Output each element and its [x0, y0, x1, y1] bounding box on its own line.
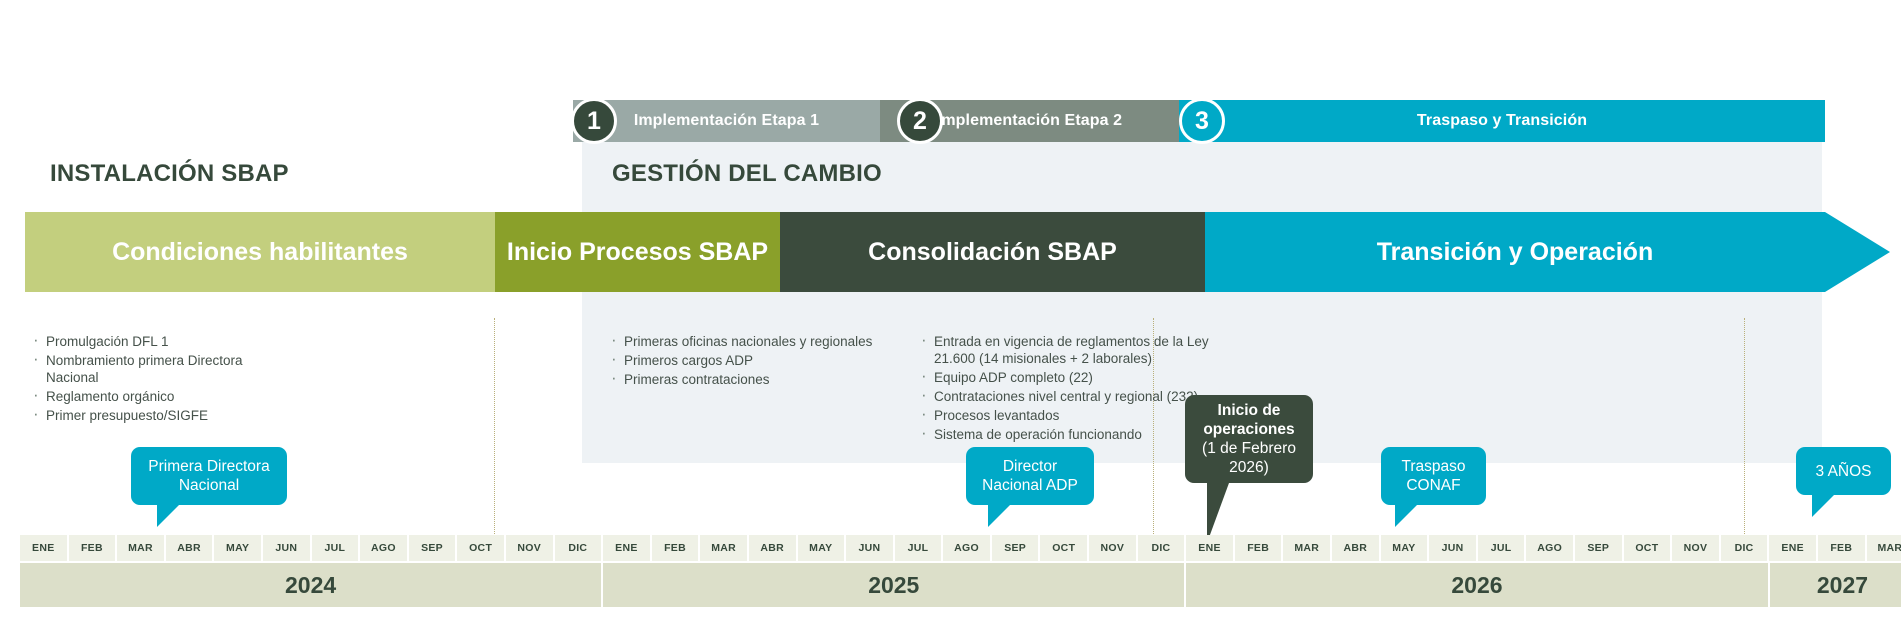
callout-line: (1 de Febrero [1202, 439, 1296, 458]
phase-bar-label: Inicio Procesos SBAP [507, 238, 768, 267]
month-cell: AGO [360, 535, 409, 561]
callout-tail-icon [1395, 505, 1417, 527]
phase-bar-label: Transición y Operación [1377, 238, 1653, 267]
callout-line: operaciones [1202, 420, 1296, 439]
phase-bar-label: Consolidación SBAP [868, 238, 1117, 267]
month-cell: DIC [1721, 535, 1770, 561]
year-cell-2026: 2026 [1186, 563, 1769, 607]
stage-number-badge-3[interactable]: 3 [1179, 98, 1225, 144]
month-cell: AGO [943, 535, 992, 561]
month-cell: NOV [1672, 535, 1721, 561]
callout-traspaso-conaf[interactable]: TraspasoCONAF [1381, 447, 1486, 505]
bullet-item: Primer presupuesto/SIGFE [30, 407, 270, 424]
stage-number-badge-1[interactable]: 1 [571, 98, 617, 144]
month-cell: MAR [700, 535, 749, 561]
bullet-item: Equipo ADP completo (22) [918, 369, 1218, 386]
month-cell: JUN [846, 535, 895, 561]
callout-text: TraspasoCONAF [1391, 457, 1475, 495]
month-cell: MAY [798, 535, 847, 561]
stage-number-badge-2[interactable]: 2 [897, 98, 943, 144]
month-cell: ENE [1186, 535, 1235, 561]
month-cell: AGO [1526, 535, 1575, 561]
stage-ribbon-label: Traspaso y Transición [1417, 112, 1587, 130]
callout-line: Nacional ADP [982, 476, 1078, 495]
phase-bar-1[interactable]: Condiciones habilitantes [25, 212, 495, 292]
stage-ribbon-label: Implementación Etapa 1 [634, 112, 819, 130]
month-cell: MAY [214, 535, 263, 561]
month-cell: FEB [69, 535, 118, 561]
month-row: ENEFEBMARABRMAYJUNJULAGOSEPOCTNOVDICENEF… [20, 535, 1901, 561]
bullet-item: Primeras contrataciones [608, 371, 878, 388]
timeline-arrow-head-icon [1825, 212, 1890, 292]
bullet-list-condiciones-habilitantes: Promulgación DFL 1Nombramiento primera D… [30, 333, 270, 426]
month-cell: OCT [1040, 535, 1089, 561]
phase-bar-label: Condiciones habilitantes [112, 238, 408, 267]
phase-bar-3[interactable]: Consolidación SBAP [780, 212, 1205, 292]
month-cell: JUL [312, 535, 361, 561]
bullet-item: Primeras oficinas nacionales y regionale… [608, 333, 878, 350]
callout-line: 3 AÑOS [1816, 462, 1872, 481]
month-cell: NOV [506, 535, 555, 561]
month-cell: MAY [1381, 535, 1430, 561]
callout-tail-icon [988, 505, 1010, 527]
bullet-item: Primeros cargos ADP [608, 352, 878, 369]
month-cell: FEB [1235, 535, 1284, 561]
callout-inicio-de-operaciones[interactable]: Inicio deoperaciones(1 de Febrero2026) [1185, 395, 1313, 483]
stage-ribbon-label: Implementación Etapa 2 [937, 112, 1122, 130]
bullet-list-consolidacion: Entrada en vigencia de reglamentos de la… [918, 333, 1218, 445]
month-cell: DIC [1138, 535, 1187, 561]
guide-line-2025 [494, 318, 495, 538]
month-cell: FEB [652, 535, 701, 561]
month-cell: SEP [992, 535, 1041, 561]
month-cell: JUN [1429, 535, 1478, 561]
callout-tres-anos[interactable]: 3 AÑOS [1796, 447, 1891, 495]
month-cell: SEP [1575, 535, 1624, 561]
page-title-left: INSTALACIÓN SBAP [50, 160, 289, 188]
year-row: 2024202520262027 [20, 563, 1901, 607]
bullet-item: Contrataciones nivel central y regional … [918, 388, 1218, 405]
month-cell: ENE [603, 535, 652, 561]
bullet-item: Entrada en vigencia de reglamentos de la… [918, 333, 1218, 367]
month-cell: JUN [263, 535, 312, 561]
callout-text: Inicio deoperaciones(1 de Febrero2026) [1192, 401, 1306, 477]
month-cell: DIC [555, 535, 604, 561]
month-cell: ABR [1332, 535, 1381, 561]
month-cell: ABR [749, 535, 798, 561]
callout-line: Traspaso [1401, 457, 1465, 476]
year-cell-2027: 2027 [1770, 563, 1901, 607]
month-cell: JUL [1478, 535, 1527, 561]
phase-bar-4[interactable]: Transición y Operación [1205, 212, 1825, 292]
callout-text: 3 AÑOS [1806, 462, 1882, 481]
month-cell: ABR [166, 535, 215, 561]
bullet-item: Sistema de operación funcionando [918, 426, 1218, 443]
callout-tail-icon [1812, 495, 1834, 517]
month-cell: OCT [1624, 535, 1673, 561]
callout-text: DirectorNacional ADP [972, 457, 1088, 495]
month-cell: JUL [895, 535, 944, 561]
month-cell: MAR [1283, 535, 1332, 561]
page-title-right: GESTIÓN DEL CAMBIO [612, 160, 882, 188]
callout-line: Primera Directora [148, 457, 269, 476]
callout-line: Nacional [148, 476, 269, 495]
callout-director-nacional-adp[interactable]: DirectorNacional ADP [966, 447, 1094, 505]
month-cell: FEB [1818, 535, 1867, 561]
bullet-item: Reglamento orgánico [30, 388, 270, 405]
month-cell: MAR [1867, 535, 1901, 561]
guide-line-2027 [1744, 318, 1745, 538]
month-cell: MAR [117, 535, 166, 561]
month-cell: OCT [457, 535, 506, 561]
callout-tail-icon [157, 505, 179, 527]
year-cell-2025: 2025 [603, 563, 1186, 607]
month-cell: NOV [1089, 535, 1138, 561]
stage-ribbon-1[interactable]: Implementación Etapa 1 [573, 100, 880, 142]
year-cell-2024: 2024 [20, 563, 603, 607]
bullet-item: Procesos levantados [918, 407, 1218, 424]
callout-primera-directora-nacional[interactable]: Primera DirectoraNacional [131, 447, 287, 505]
callout-line: Director [982, 457, 1078, 476]
callout-tail-icon [1207, 483, 1229, 543]
month-cell: SEP [409, 535, 458, 561]
callout-line: CONAF [1401, 476, 1465, 495]
timeline-diagram: Implementación Etapa 11Implementación Et… [0, 0, 1901, 631]
bullet-list-inicio-procesos: Primeras oficinas nacionales y regionale… [608, 333, 878, 390]
callout-text: Primera DirectoraNacional [138, 457, 279, 495]
month-cell: ENE [1769, 535, 1818, 561]
callout-line: 2026) [1202, 458, 1296, 477]
phase-bar-2[interactable]: Inicio Procesos SBAP [495, 212, 780, 292]
stage-ribbon-3[interactable]: Traspaso y Transición [1179, 100, 1825, 142]
bullet-item: Promulgación DFL 1 [30, 333, 270, 350]
callout-line: Inicio de [1202, 401, 1296, 420]
bullet-item: Nombramiento primera Directora Nacional [30, 352, 270, 386]
month-cell: ENE [20, 535, 69, 561]
